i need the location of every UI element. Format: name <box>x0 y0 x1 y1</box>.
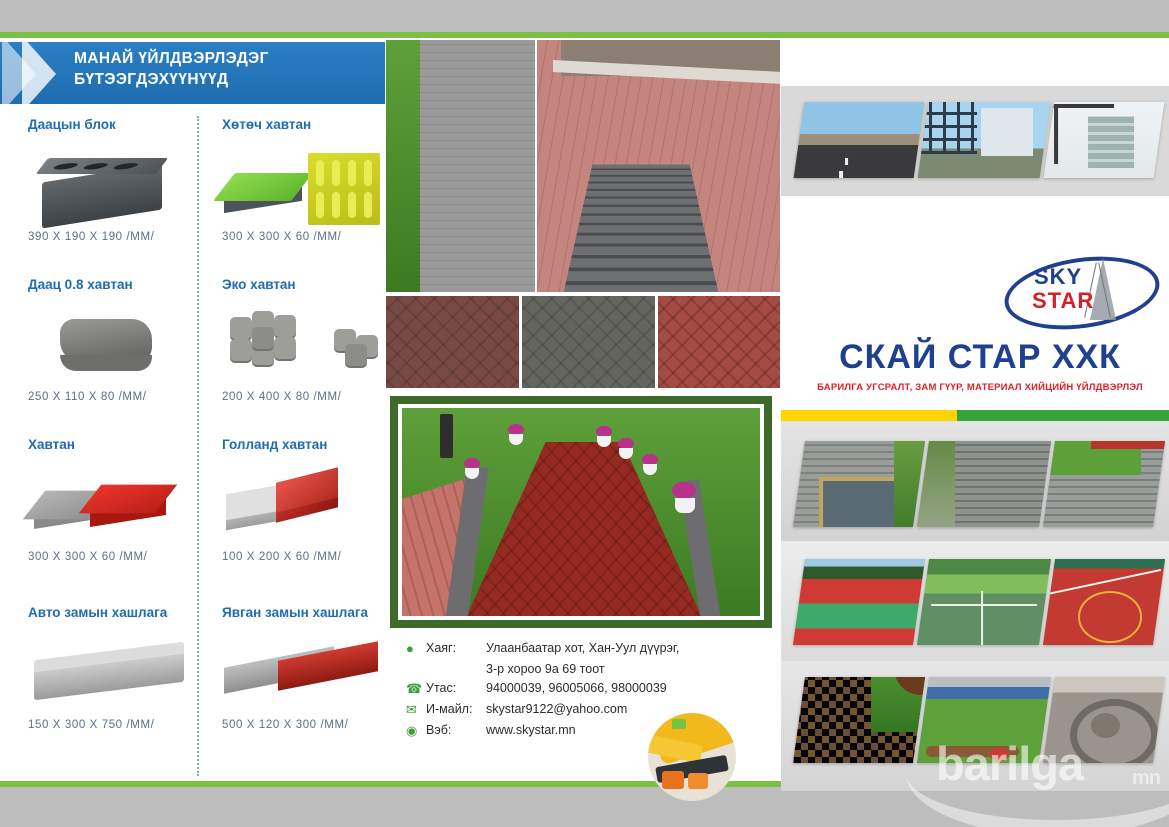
product-dimensions: 100 X 200 X 60 /MM/ <box>222 551 385 563</box>
product-dimensions: 150 X 300 X 750 /MM/ <box>28 719 208 731</box>
product-title: Хөтөч хавтан <box>222 118 385 133</box>
gabion-strip <box>781 421 1169 541</box>
globe-icon: ◉ <box>406 722 426 740</box>
phone-icon: ☎ <box>406 680 426 698</box>
contact-row-address-line2: 3-р хороо 9а 69 тоот <box>406 661 776 678</box>
tools-photo-badge <box>648 713 736 801</box>
accent-bar-green <box>957 410 1169 421</box>
sky-star-logo: SKY STAR <box>1004 252 1152 328</box>
photo-gabion-frame[interactable] <box>793 441 925 527</box>
watermark: barilga mn <box>936 736 1166 800</box>
product-card[interactable]: Даац 0.8 хавтан 250 X 110 X 80 /MM/ <box>28 278 204 403</box>
page-title: МАНАЙ ҮЙЛДВЭРЛЭДЭГ БҮТЭЭГДЭХҮҮНҮҮД <box>74 49 269 91</box>
contact-label: Утас: <box>426 680 486 697</box>
product-title: Даацын блок <box>28 118 204 133</box>
contact-label: Вэб: <box>426 722 486 739</box>
sports-strip <box>781 541 1169 661</box>
photo-plaza-grid[interactable] <box>537 40 780 292</box>
photo-walkway[interactable] <box>386 40 535 292</box>
contact-label: И-майл: <box>426 701 486 718</box>
garden-photo-frame <box>390 396 772 628</box>
logo-star-text: STAR <box>1032 288 1094 314</box>
product-title: Голланд хавтан <box>222 438 385 453</box>
photo-steel-frame[interactable] <box>918 102 1051 178</box>
photo-tennis-court[interactable] <box>917 559 1051 645</box>
photo-sport-court-red[interactable] <box>793 559 925 645</box>
panel-header: МАНАЙ ҮЙЛДВЭРЛЭДЭГ БҮТЭЭГДЭХҮҮНҮҮД <box>0 42 385 104</box>
road-curb-illustration <box>28 627 208 715</box>
contact-label: Хаяг: <box>426 640 486 657</box>
company-tagline: БАРИЛГА УГСРАЛТ, ЗАМ ГҮҮР, МАТЕРИАЛ ХИЙЦ… <box>791 382 1169 393</box>
product-card[interactable]: Хөтөч хавтан 300 X 300 X 60 /MM/ <box>222 118 385 243</box>
company-name: СКАЙ СТАР ХХК <box>791 338 1169 377</box>
product-title: Даац 0.8 хавтан <box>28 278 204 293</box>
photo-herringbone-red[interactable] <box>658 296 780 388</box>
walk-kerb-illustration <box>222 627 385 715</box>
product-card[interactable]: Эко хавтан 200 X 400 X 80 /MM/ <box>222 278 385 403</box>
garden-photo-inner-border <box>398 404 764 620</box>
location-pin-icon: ● <box>406 640 426 658</box>
product-dimensions: 200 X 400 X 80 /MM/ <box>222 391 385 403</box>
product-card[interactable]: Явган замын хашлага 500 X 120 X 300 /MM/ <box>222 606 385 731</box>
photo-gabion-retaining[interactable] <box>1043 441 1165 527</box>
product-card[interactable]: Авто замын хашлага 150 X 300 X 750 /MM/ <box>28 606 208 731</box>
chevron-icon <box>22 42 56 104</box>
product-card[interactable]: Голланд хавтан 100 X 200 X 60 /MM/ <box>222 438 385 563</box>
wave-paver-illustration <box>28 299 204 387</box>
photo-court-markings[interactable] <box>1043 559 1165 645</box>
product-dimensions: 500 X 120 X 300 /MM/ <box>222 719 385 731</box>
right-company-panel: SKY STAR СКАЙ СТАР ХХК БАРИЛГА УГСРАЛТ, … <box>781 38 1169 781</box>
product-dimensions: 300 X 300 X 60 /MM/ <box>28 551 204 563</box>
eco-grid-illustration <box>222 299 385 387</box>
product-title: Эко хавтан <box>222 278 385 293</box>
hollow-block-illustration <box>28 139 204 227</box>
product-dimensions: 250 X 110 X 80 /MM/ <box>28 391 204 403</box>
construction-strip <box>781 86 1169 196</box>
photo-herringbone-mixed[interactable] <box>386 296 519 388</box>
contact-row-phone: ☎ Утас: 94000039, 96005066, 98000039 <box>406 680 776 698</box>
contact-value: 3-р хороо 9а 69 тоот <box>486 661 776 678</box>
product-dimensions: 390 X 190 X 190 /MM/ <box>28 231 204 243</box>
photo-pattern-paving[interactable] <box>793 677 925 763</box>
photo-herringbone-grey[interactable] <box>522 296 655 388</box>
watermark-suffix: mn <box>1132 767 1160 790</box>
product-card[interactable]: Даацын блок 390 X 190 X 190 /MM/ <box>28 118 204 243</box>
panel-title-line2: БҮТЭЭГДЭХҮҮНҮҮД <box>74 71 228 88</box>
photo-gabion-wall[interactable] <box>917 441 1051 527</box>
square-slab-illustration <box>28 459 204 547</box>
brochure-page: МАНАЙ ҮЙЛДВЭРЛЭДЭГ БҮТЭЭГДЭХҮҮНҮҮД Даацы… <box>0 0 1169 827</box>
product-dimensions: 300 X 300 X 60 /MM/ <box>222 231 385 243</box>
product-title: Явган замын хашлага <box>222 606 385 621</box>
photo-tower-crane[interactable] <box>1044 102 1165 178</box>
photo-highway[interactable] <box>794 102 925 178</box>
tactile-tile-illustration <box>222 139 385 227</box>
holland-brick-illustration <box>222 459 385 547</box>
contact-row-address: ● Хаяг: Улаанбаатар хот, Хан-Уул дүүрэг, <box>406 640 776 658</box>
logo-sky-text: SKY <box>1034 264 1082 290</box>
product-title: Хавтан <box>28 438 204 453</box>
panel-title-line1: МАНАЙ ҮЙЛДВЭРЛЭДЭГ <box>74 50 269 67</box>
product-card[interactable]: Хавтан 300 X 300 X 60 /MM/ <box>28 438 204 563</box>
photo-garden-path[interactable] <box>402 408 760 616</box>
accent-bar-yellow <box>781 410 957 421</box>
product-title: Авто замын хашлага <box>28 606 208 621</box>
left-products-panel: МАНАЙ ҮЙЛДВЭРЛЭДЭГ БҮТЭЭГДЭХҮҮНҮҮД Даацы… <box>0 38 385 781</box>
contact-value: 94000039, 96005066, 98000039 <box>486 680 776 697</box>
envelope-icon: ✉ <box>406 701 426 719</box>
contact-value: Улаанбаатар хот, Хан-Уул дүүрэг, <box>486 640 776 657</box>
